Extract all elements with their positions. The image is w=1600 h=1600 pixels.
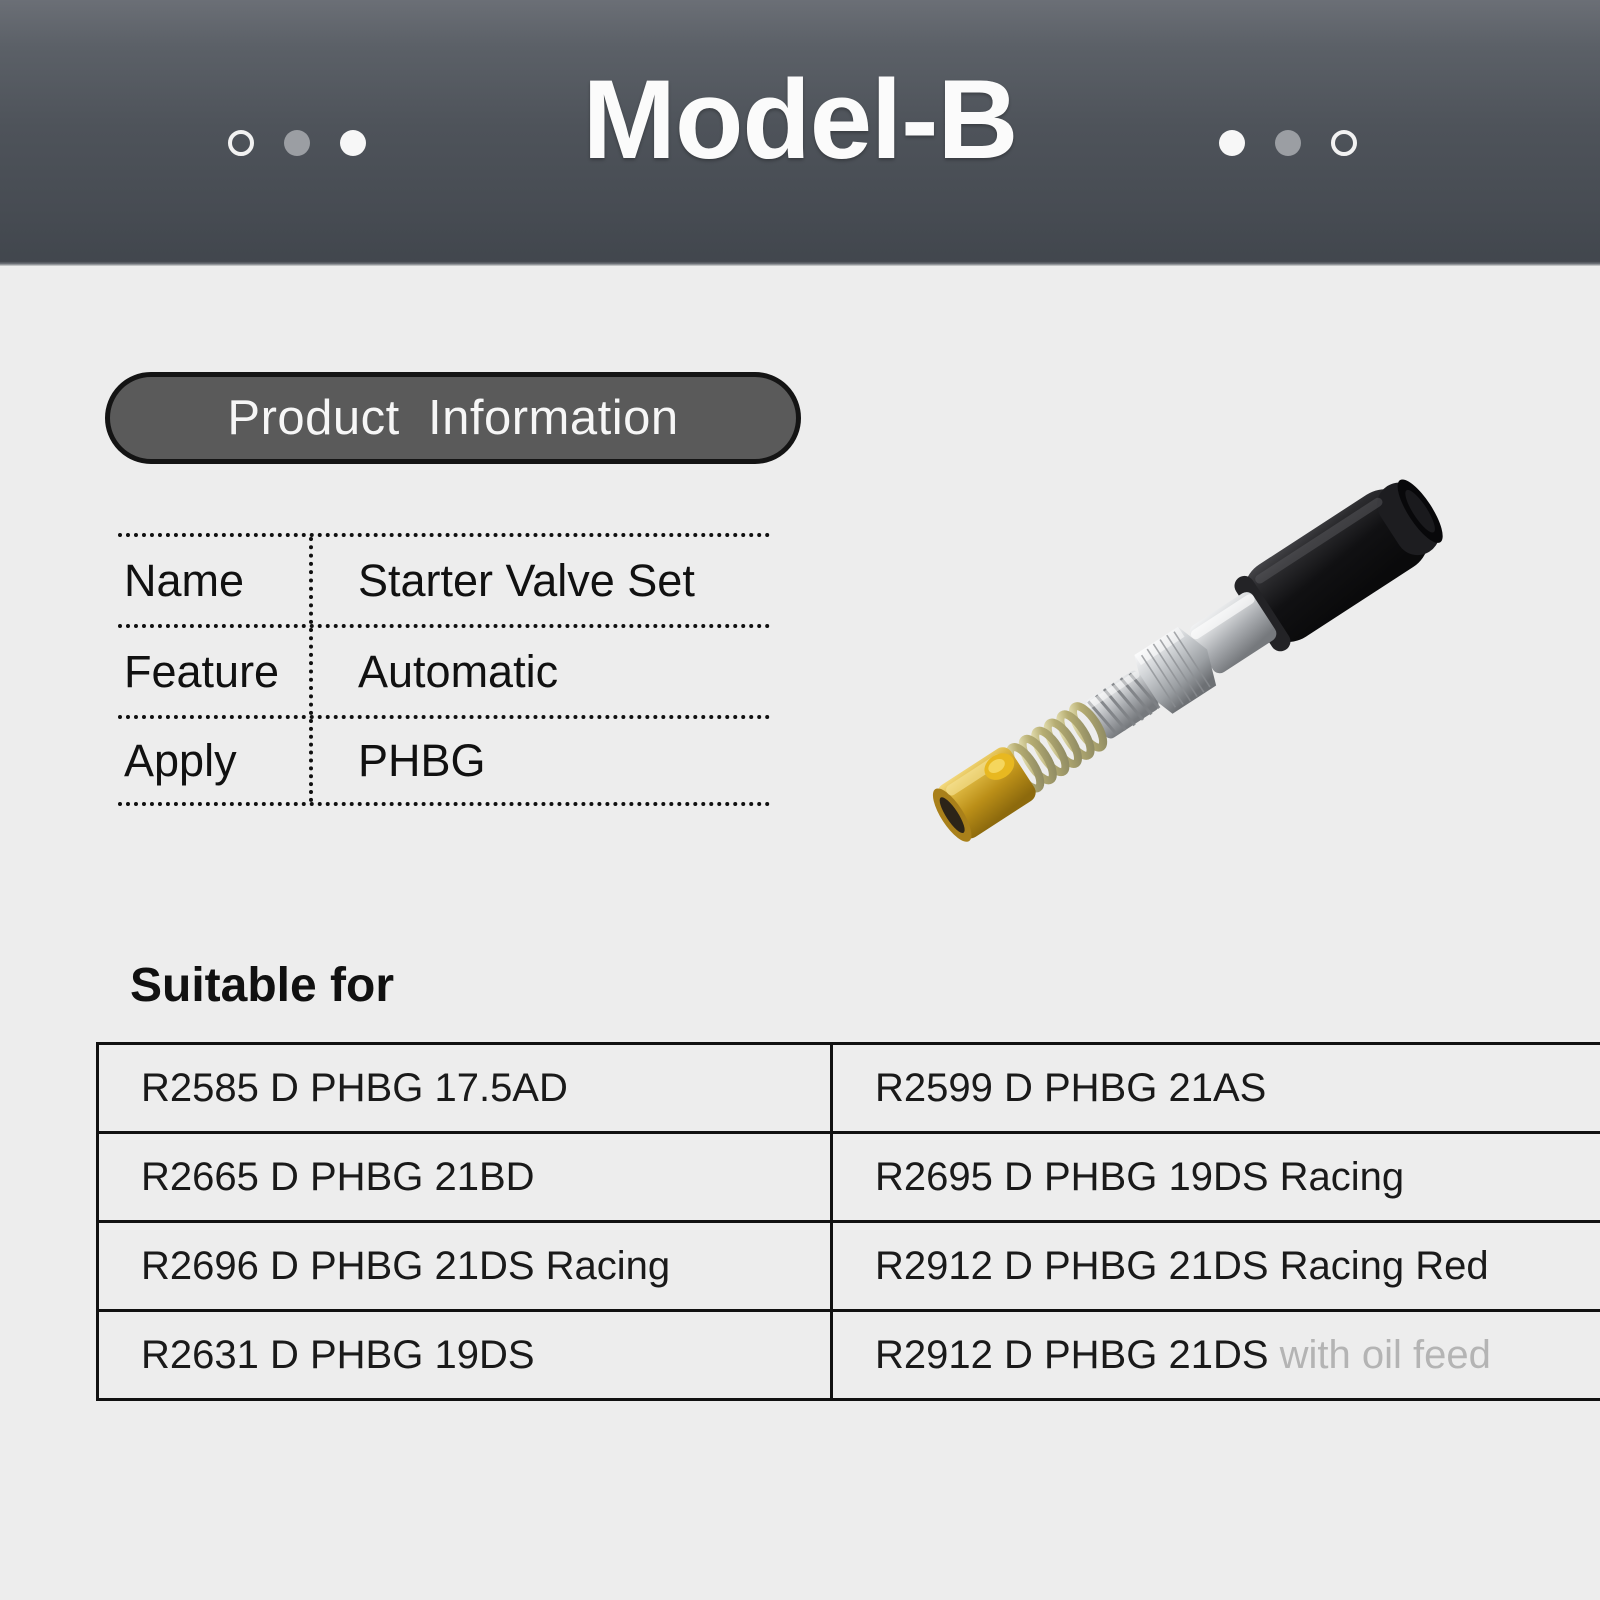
table-cell-model: R2912 D PHBG 21DS with oil feed [832, 1311, 1600, 1400]
suitable-for-table: R2585 D PHBG 17.5AD R2599 D PHBG 21AS R2… [96, 1042, 1600, 1401]
starter-valve-illustration [930, 420, 1510, 860]
dot-gray-icon [1275, 130, 1301, 156]
table-row: R2585 D PHBG 17.5AD R2599 D PHBG 21AS [98, 1044, 1600, 1133]
suitable-for-heading: Suitable for [130, 958, 394, 1013]
spec-key-name: Name [118, 537, 313, 624]
table-cell-model: R2912 D PHBG 21DS Racing Red [832, 1222, 1600, 1311]
table-cell-model: R2599 D PHBG 21AS [832, 1044, 1600, 1133]
model-code: R2912 D PHBG 21DS [875, 1333, 1280, 1377]
spec-value-name: Starter Valve Set [313, 537, 770, 624]
product-information-label: Product Information [227, 390, 678, 446]
table-cell-model: R2585 D PHBG 17.5AD [98, 1044, 832, 1133]
table-row: R2696 D PHBG 21DS Racing R2912 D PHBG 21… [98, 1222, 1600, 1311]
spec-row: Apply PHBG [118, 715, 770, 806]
table-cell-model: R2631 D PHBG 19DS [98, 1311, 832, 1400]
dot-hollow-icon [1331, 130, 1357, 156]
spec-value-apply: PHBG [313, 719, 770, 802]
spec-key-feature: Feature [118, 628, 313, 715]
table-cell-model: R2665 D PHBG 21BD [98, 1133, 832, 1222]
table-cell-model: R2695 D PHBG 19DS Racing [832, 1133, 1600, 1222]
specification-table: Name Starter Valve Set Feature Automatic… [118, 533, 770, 806]
model-note-faded: with oil feed [1280, 1333, 1491, 1377]
header-dots-right [1219, 130, 1357, 156]
spec-row: Feature Automatic [118, 624, 770, 715]
spec-key-apply: Apply [118, 719, 313, 802]
product-image [930, 420, 1510, 860]
page-title: Model-B [0, 64, 1600, 176]
table-row: R2631 D PHBG 19DS R2912 D PHBG 21DS with… [98, 1311, 1600, 1400]
table-cell-model: R2696 D PHBG 21DS Racing [98, 1222, 832, 1311]
page-header: Model-B [0, 0, 1600, 266]
product-information-banner: Product Information [105, 372, 801, 464]
spec-value-feature: Automatic [313, 628, 770, 715]
table-row: R2665 D PHBG 21BD R2695 D PHBG 19DS Raci… [98, 1133, 1600, 1222]
spec-row: Name Starter Valve Set [118, 533, 770, 624]
dot-white-icon [1219, 130, 1245, 156]
